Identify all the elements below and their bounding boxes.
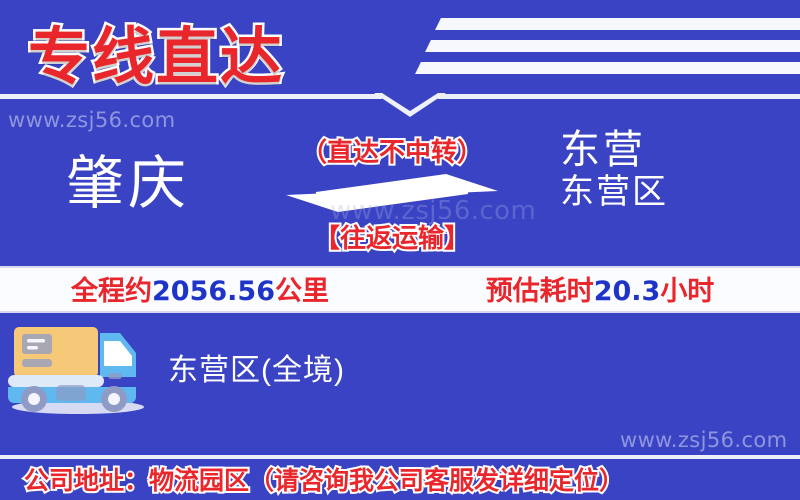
watermark-center: www.zsj56.com	[330, 196, 536, 226]
logistics-route-banner: 专线直达 www.zsj56.com 肇庆 （直达不中转）	[0, 0, 800, 500]
route-note-top: （直达不中转）	[282, 132, 502, 169]
header-band: 专线直达	[0, 0, 800, 96]
duration-unit: 小时	[660, 276, 714, 307]
distance-stat: 全程约2056.56公里	[0, 271, 400, 312]
duration-stat: 预估耗时20.3小时	[400, 271, 800, 312]
header-divider-left	[0, 94, 382, 99]
route-stats-bar: 全程约2056.56公里 预估耗时20.3小时	[0, 266, 800, 313]
distance-unit: 公里	[275, 276, 329, 307]
double-chevron-down-icon	[372, 92, 448, 118]
decor-stripe-3	[415, 62, 800, 74]
destination-block: 东营 东营区	[560, 128, 760, 212]
coverage-area: 东营区(全境)	[168, 345, 345, 389]
destination-city: 东营	[560, 128, 760, 173]
origin-city: 肇庆	[66, 136, 190, 220]
distance-label: 全程约	[71, 276, 152, 307]
company-address: 公司地址：物流园区（请咨询我公司客服发详细定位）	[24, 461, 624, 497]
footer-bar: 公司地址：物流园区（请咨询我公司客服发详细定位）	[0, 459, 800, 500]
header-divider-right	[438, 94, 800, 99]
watermark-bottom-right: www.zsj56.com	[620, 428, 788, 452]
duration-label: 预估耗时	[486, 276, 594, 307]
duration-value: 20.3	[594, 276, 661, 307]
page-title: 专线直达	[28, 6, 284, 96]
route-section: 肇庆 （直达不中转） 【往返运输】 东营 东营区	[0, 124, 800, 266]
decor-stripe-1	[435, 18, 800, 30]
destination-district: 东营区	[560, 173, 760, 212]
coverage-section: 东营区(全境)	[0, 313, 800, 423]
distance-value: 2056.56	[152, 276, 275, 307]
delivery-truck-icon	[4, 319, 152, 415]
decor-stripe-2	[425, 40, 800, 52]
